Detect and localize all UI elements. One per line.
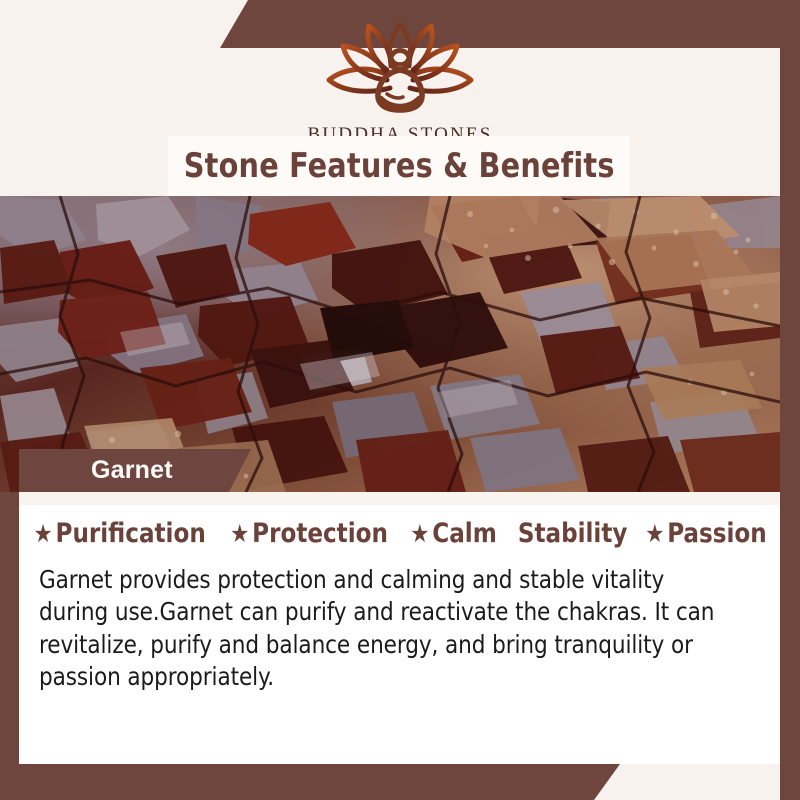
benefit-label: Calm: [432, 518, 496, 549]
stone-name-banner: Garnet: [19, 449, 251, 492]
panel-top-strip: [19, 492, 780, 505]
content-panel: ★ Purification ★ Protection ★ Calm Stabi…: [19, 492, 780, 764]
benefit-label: Protection: [252, 518, 388, 549]
benefit-label: Stability: [518, 518, 628, 549]
lotus-buddha-icon: [307, 18, 493, 122]
benefit-keyword-calm: ★ Calm: [410, 518, 496, 549]
benefit-keyword-stability: Stability: [518, 518, 628, 549]
benefit-label: Purification: [55, 518, 205, 549]
garnet-crystal-cluster-illustration: [0, 196, 780, 492]
stone-description: Garnet provides protection and calming a…: [39, 564, 732, 693]
benefit-keyword-protection: ★ Protection: [230, 518, 388, 549]
frame-left-bar: [0, 492, 19, 800]
page-title: Stone Features & Benefits: [184, 146, 615, 186]
benefit-keywords-row: ★ Purification ★ Protection ★ Calm Stabi…: [19, 518, 780, 549]
infographic-page: BUDDHA STONES Stone Features & Benefits: [0, 0, 800, 800]
benefit-label: Passion: [668, 518, 767, 549]
star-icon: ★: [230, 521, 249, 546]
star-icon: ★: [410, 521, 429, 546]
brand-logo: BUDDHA STONES: [0, 18, 800, 146]
stone-photo: [0, 196, 780, 492]
star-icon: ★: [33, 521, 52, 546]
benefit-keyword-passion: ★ Passion: [646, 518, 767, 549]
stone-name-label: Garnet: [91, 456, 173, 485]
star-icon: ★: [646, 521, 665, 546]
frame-bottom-bar: [0, 764, 620, 800]
benefit-keyword-purification: ★ Purification: [33, 518, 205, 549]
section-title-band: Stone Features & Benefits: [168, 136, 630, 196]
